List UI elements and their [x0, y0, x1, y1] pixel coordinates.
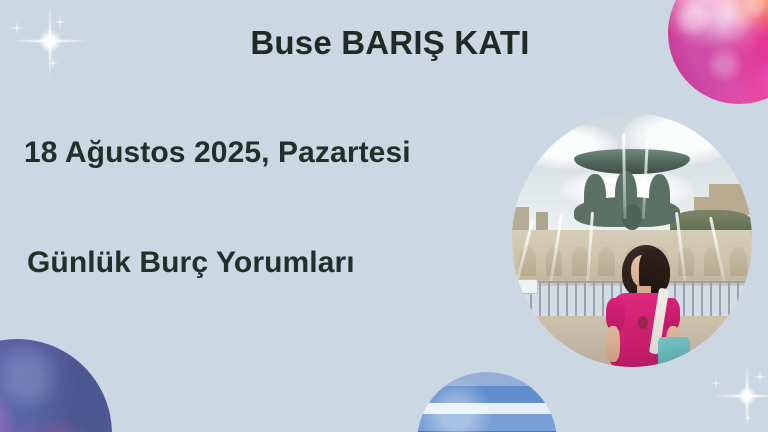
- sparkle-icon: [712, 362, 768, 430]
- photo-person-bag: [658, 337, 689, 367]
- poster-canvas: Buse BARIŞ KATI 18 Ağustos 2025, Pazarte…: [0, 0, 768, 432]
- sparkle-small-icon: [752, 370, 767, 384]
- date-line: 18 Ağustos 2025, Pazartesi: [24, 136, 411, 170]
- sparkle-small-icon: [708, 376, 723, 389]
- photo-sign: [517, 279, 538, 294]
- photo-person-arm: [606, 326, 620, 362]
- watercolor-texture: [0, 339, 112, 432]
- page-title: Buse BARIŞ KATI: [0, 24, 768, 62]
- photo-building: [512, 207, 529, 232]
- subtitle-line: Günlük Burç Yorumları: [27, 246, 355, 280]
- sparkle-core: [738, 387, 756, 405]
- watercolor-circle-purple-icon: [0, 339, 112, 432]
- watercolor-circle-blue-icon: [417, 372, 557, 432]
- photo-scene: [512, 113, 752, 367]
- photo-person-necklace: [638, 316, 648, 329]
- profile-photo-circle: [512, 113, 752, 367]
- watercolor-texture: [417, 372, 557, 432]
- sparkle-small-icon: [742, 412, 753, 423]
